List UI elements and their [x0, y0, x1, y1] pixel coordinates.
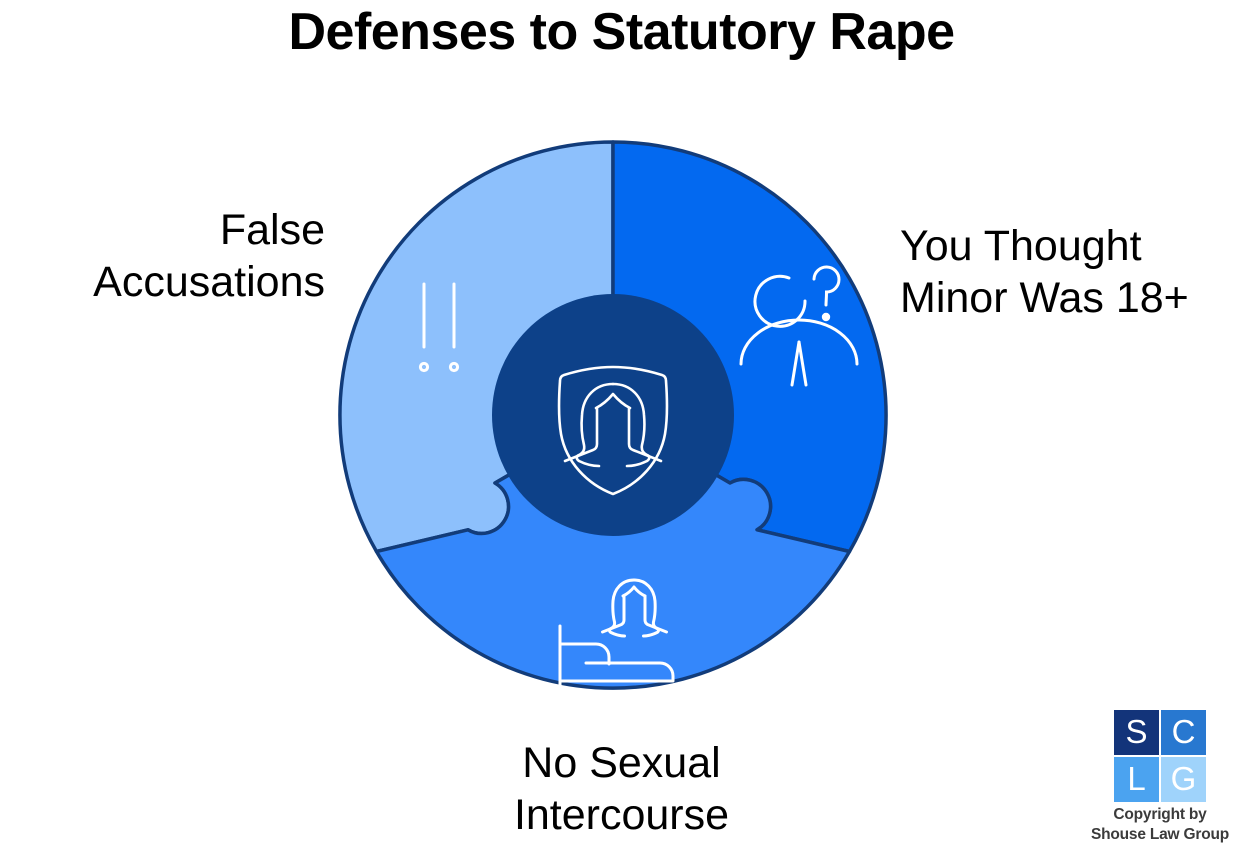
center-hub-circle[interactable]: [492, 294, 734, 536]
segment-label-line-2: Accusations: [93, 256, 325, 308]
logo-cell-s: S: [1114, 710, 1159, 755]
copyright-line-1: Copyright by: [1077, 805, 1243, 825]
logo-cell-l: L: [1114, 757, 1159, 802]
segment-label-line-1: You Thought: [900, 220, 1189, 272]
segment-label-line-1: No Sexual: [0, 737, 1243, 789]
segment-label-you-thought-minor-was-18: You Thought Minor Was 18+: [900, 220, 1189, 325]
copyright-caption: Copyright by Shouse Law Group: [1077, 805, 1243, 845]
segment-label-line-2: Intercourse: [0, 789, 1243, 841]
segment-label-no-sexual-intercourse: No Sexual Intercourse: [0, 737, 1243, 842]
logo-block: S C L G Copyright by Shouse Law Group: [1077, 710, 1243, 845]
logo-cell-c: C: [1161, 710, 1206, 755]
segment-label-line-2: Minor Was 18+: [900, 272, 1189, 324]
segment-label-false-accusations: False Accusations: [93, 204, 325, 309]
logo-cell-g: G: [1161, 757, 1206, 802]
copyright-line-2: Shouse Law Group: [1077, 825, 1243, 845]
sclg-logo: S C L G: [1114, 710, 1206, 802]
page-title: Defenses to Statutory Rape: [0, 4, 1243, 61]
puzzle-pie-diagram: [320, 132, 910, 702]
segment-label-line-1: False: [93, 204, 325, 256]
